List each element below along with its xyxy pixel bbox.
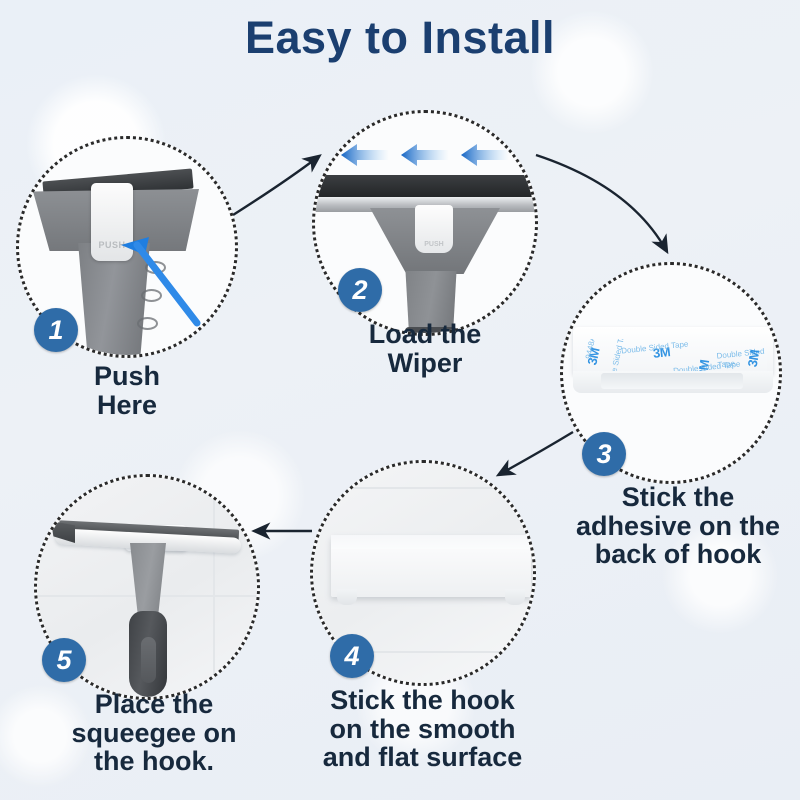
connector-2-to-3 xyxy=(536,155,666,250)
caption-line: and flat surface xyxy=(300,743,545,772)
step-5-badge: 5 xyxy=(42,638,86,682)
caption-line: squeegee on xyxy=(38,719,270,748)
step-3-badge: 3 xyxy=(582,432,626,476)
load-direction-arrow xyxy=(339,141,519,171)
page-title: Easy to Install xyxy=(0,12,800,64)
caption-line: the hook. xyxy=(38,747,270,776)
grip-hole xyxy=(141,637,156,683)
step-2-badge: 2 xyxy=(338,268,382,312)
caption-line: Stick the hook xyxy=(300,686,545,715)
wiper-blade xyxy=(315,175,535,197)
push-direction-arrow xyxy=(119,231,209,331)
step-2-caption: Load the Wiper xyxy=(325,320,525,377)
step-4-caption: Stick the hook on the smooth and flat su… xyxy=(300,686,545,772)
step-1-number: 1 xyxy=(48,315,63,346)
step-4-badge: 4 xyxy=(330,634,374,678)
caption-line: Wiper xyxy=(325,349,525,378)
connector-1-to-2 xyxy=(233,157,318,215)
infographic-page: Easy to Install PUSH xyxy=(0,0,800,800)
clip-label: PUSH xyxy=(415,241,453,248)
wiper-clip[interactable]: PUSH xyxy=(415,205,453,253)
wall-grout-line xyxy=(213,477,215,697)
step-1-caption: Push Here xyxy=(27,362,227,419)
step-2-number: 2 xyxy=(352,275,367,306)
caption-line: Place the xyxy=(38,690,270,719)
caption-line: Load the xyxy=(325,320,525,349)
tape-brand-logo: 3M xyxy=(745,349,763,368)
step-3-number: 3 xyxy=(596,439,611,470)
step-5-number: 5 xyxy=(56,645,71,676)
caption-line: adhesive on the xyxy=(556,512,800,541)
hook-top-edge xyxy=(331,535,531,549)
hook-nub xyxy=(505,589,525,605)
step-4-number: 4 xyxy=(344,641,359,672)
caption-line: Here xyxy=(27,391,227,420)
caption-line: on the smooth xyxy=(300,715,545,744)
caption-line: back of hook xyxy=(556,540,800,569)
hook-slot xyxy=(601,373,743,389)
step-3-caption: Stick the adhesive on the back of hook xyxy=(556,483,800,569)
hook-nub xyxy=(337,589,357,605)
step-5-caption: Place the squeegee on the hook. xyxy=(38,690,270,776)
step-1-badge: 1 xyxy=(34,308,78,352)
wall-grout-line xyxy=(313,487,533,489)
caption-line: Stick the xyxy=(556,483,800,512)
caption-line: Push xyxy=(27,362,227,391)
